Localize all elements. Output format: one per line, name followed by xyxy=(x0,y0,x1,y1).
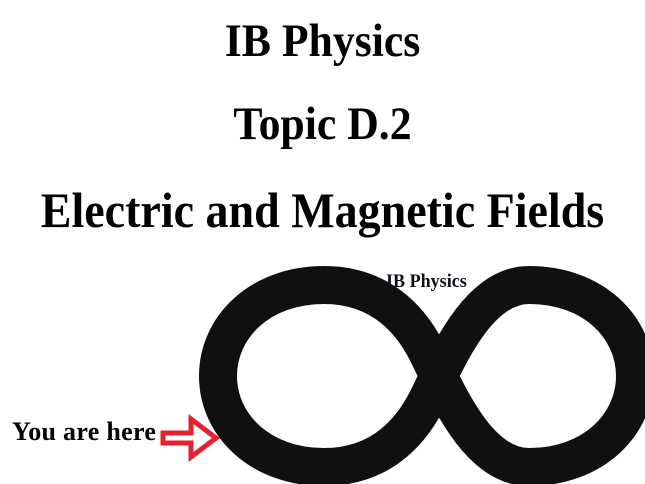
page-title-line-2: Topic D.2 xyxy=(23,101,623,148)
slide-canvas: IB Physics Topic D.2 Electric and Magnet… xyxy=(0,0,645,484)
logo-caption: IB Physics xyxy=(386,272,467,291)
page-title-line-3: Electric and Magnetic Fields xyxy=(26,185,619,235)
you-are-here-label: You are here xyxy=(12,419,156,445)
infinity-logo xyxy=(208,272,645,480)
infinity-symbol-icon xyxy=(208,272,645,480)
page-title-line-1: IB Physics xyxy=(23,18,623,65)
arrow-right-icon xyxy=(158,412,220,464)
